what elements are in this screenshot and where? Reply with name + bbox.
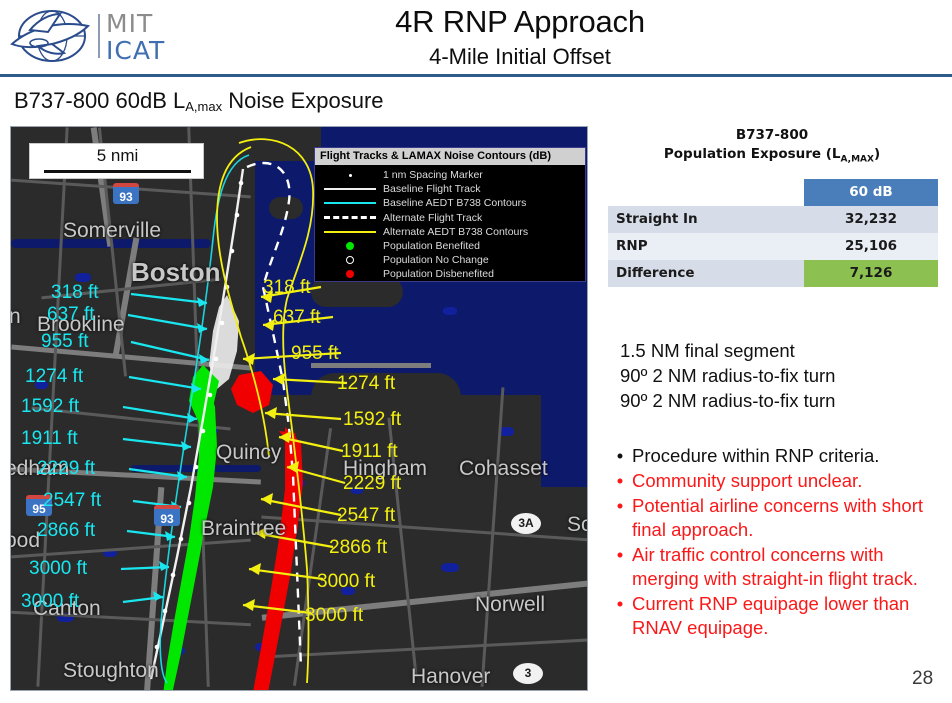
bullet-text: Procedure within RNP criteria. [632, 444, 944, 468]
slide-root: MIT ICAT 4R RNP Approach 4-Mile Initial … [0, 0, 952, 703]
place-label: n [10, 305, 21, 329]
altitude-label-alternate: 2866 ft [329, 537, 387, 559]
row-value-rnp: 25,106 [804, 233, 938, 260]
place-label: ood [10, 529, 40, 553]
route-shield-3a: 3A [511, 513, 541, 534]
bullet-icon: • [608, 543, 632, 591]
mit-icat-logo: MIT ICAT [8, 6, 183, 68]
right-panel: B737-800 Population Exposure (LA,MAX) 60… [600, 126, 944, 696]
list-item: • Community support unclear. [608, 469, 944, 493]
row-value-straight-in: 32,232 [804, 206, 938, 233]
table-title: B737-800 Population Exposure (LA,MAX) [600, 126, 944, 170]
altitude-label-alternate: 2229 ft [343, 473, 401, 495]
legend-item: Population No Change [317, 253, 585, 267]
table-header-60db: 60 dB [804, 179, 938, 206]
table-row: Straight In 32,232 [608, 206, 938, 233]
altitude-label-alternate: 637 ft [273, 307, 321, 329]
altitude-label-baseline: 2547 ft [43, 490, 101, 512]
place-label: Somerville [63, 219, 161, 243]
yellow-line-icon [317, 225, 383, 239]
airplane-globe-icon [8, 8, 94, 64]
altitude-label-alternate: 1592 ft [343, 409, 401, 431]
logo-divider [98, 14, 100, 58]
altitude-label-baseline: 955 ft [41, 331, 89, 353]
bullet-text: Current RNP equipage lower than RNAV equ… [632, 592, 944, 640]
map-heading-pre: B737-800 60dB L [14, 88, 185, 113]
table-header-blank [608, 179, 804, 206]
red-dot-icon [317, 267, 383, 281]
logo-mit-text: MIT [106, 10, 165, 37]
altitude-label-baseline: 1911 ft [21, 428, 78, 450]
altitude-label-alternate: 318 ft [263, 277, 311, 299]
legend-item: Population Benefited [317, 239, 585, 253]
route-shield-93-north: 93 [113, 183, 139, 204]
list-item: • Current RNP equipage lower than RNAV e… [608, 592, 944, 640]
altitude-label-baseline: 637 ft [47, 304, 95, 326]
header-divider [0, 74, 952, 77]
legend-item: Population Disbenefited [317, 267, 585, 281]
row-label-rnp: RNP [608, 233, 804, 260]
bullet-text: Community support unclear. [632, 469, 944, 493]
altitude-label-baseline: 1274 ft [25, 366, 83, 388]
procedure-specs: 1.5 NM final segment 90º 2 NM radius-to-… [620, 338, 835, 413]
table-title-line2: Population Exposure (LA,MAX) [600, 145, 944, 170]
legend-item: Baseline Flight Track [317, 182, 585, 196]
scalebar-line [44, 170, 191, 173]
place-label: Cohasset [459, 457, 548, 481]
cyan-line-icon [317, 196, 383, 210]
legend-item: Alternate AEDT B738 Contours [317, 225, 585, 239]
map-heading-post: Noise Exposure [222, 88, 383, 113]
altitude-label-alternate: 3000 ft [317, 571, 375, 593]
noise-exposure-map[interactable]: Somerville Boston Brookline n Quincy Hin… [10, 126, 588, 691]
map-heading-sub: A,max [185, 99, 222, 114]
table-title-line1: B737-800 [600, 126, 944, 145]
table-row: RNP 25,106 [608, 233, 938, 260]
place-label: Hanover [411, 665, 490, 689]
bullet-text: Air traffic control concerns with mergin… [632, 543, 944, 591]
place-label: Stoughton [63, 659, 159, 683]
legend-item: Baseline AEDT B738 Contours [317, 196, 585, 210]
map-legend: Flight Tracks & LAMAX Noise Contours (dB… [314, 147, 586, 282]
altitude-label-baseline: 2229 ft [37, 458, 95, 480]
legend-item: Alternate Flight Track [317, 211, 585, 225]
solid-line-icon [317, 182, 383, 196]
scalebar-label: 5 nmi [30, 146, 205, 166]
row-value-difference: 7,126 [804, 260, 938, 287]
list-item: • Potential airline concerns with short … [608, 494, 944, 542]
spec-line: 1.5 NM final segment [620, 338, 835, 363]
altitude-label-baseline: 1592 ft [21, 396, 79, 418]
spec-line: 90º 2 NM radius-to-fix turn [620, 388, 835, 413]
place-label: Quincy [216, 441, 281, 465]
altitude-label-baseline: 318 ft [51, 282, 99, 304]
table-header-row: 60 dB [608, 179, 938, 206]
list-item: • Procedure within RNP criteria. [608, 444, 944, 468]
place-label: Sc [567, 513, 588, 537]
bullet-icon: • [608, 494, 632, 542]
slide-header: MIT ICAT 4R RNP Approach 4-Mile Initial … [0, 0, 952, 76]
altitude-label-alternate: 955 ft [291, 343, 339, 365]
list-item: • Air traffic control concerns with merg… [608, 543, 944, 591]
population-exposure-table: 60 dB Straight In 32,232 RNP 25,106 Diff… [608, 179, 938, 287]
altitude-label-baseline: 3000 ft [29, 558, 87, 580]
map-heading: B737-800 60dB LA,max Noise Exposure [14, 88, 384, 114]
title-block: 4R RNP Approach 4-Mile Initial Offset [240, 2, 800, 72]
table-row: Difference 7,126 [608, 260, 938, 287]
altitude-label-alternate: 3000 ft [305, 605, 363, 627]
altitude-label-baseline: 2866 ft [37, 520, 95, 542]
bullet-list: • Procedure within RNP criteria. • Commu… [608, 444, 944, 641]
place-label: Braintree [201, 517, 286, 541]
place-label: Norwell [475, 593, 545, 617]
page-subtitle: 4-Mile Initial Offset [240, 42, 800, 72]
map-scalebar: 5 nmi [29, 143, 204, 179]
spec-line: 90º 2 NM radius-to-fix turn [620, 363, 835, 388]
row-label-straight-in: Straight In [608, 206, 804, 233]
row-label-difference: Difference [608, 260, 804, 287]
place-label: Boston [131, 257, 221, 288]
altitude-label-alternate: 2547 ft [337, 505, 395, 527]
legend-item: 1 nm Spacing Marker [317, 168, 585, 182]
altitude-label-baseline: 3000 ft [21, 591, 79, 613]
green-dot-icon [317, 239, 383, 253]
logo-wordmark: MIT ICAT [106, 10, 165, 64]
page-number: 28 [912, 668, 933, 690]
bullet-icon: • [608, 592, 632, 640]
page-title: 4R RNP Approach [240, 2, 800, 42]
route-shield-93-south: 93 [154, 505, 180, 526]
bullet-icon: • [608, 444, 632, 468]
route-shield-3: 3 [513, 663, 543, 684]
legend-title: Flight Tracks & LAMAX Noise Contours (dB… [315, 148, 585, 165]
altitude-label-alternate: 1911 ft [341, 441, 398, 463]
altitude-label-alternate: 1274 ft [337, 373, 395, 395]
bullet-icon: • [608, 469, 632, 493]
dashed-line-icon [317, 211, 383, 225]
logo-icat-text: ICAT [106, 37, 165, 64]
bullet-text: Potential airline concerns with short fi… [632, 494, 944, 542]
hollow-dot-icon [317, 253, 383, 267]
spacing-marker-icon [317, 168, 383, 182]
